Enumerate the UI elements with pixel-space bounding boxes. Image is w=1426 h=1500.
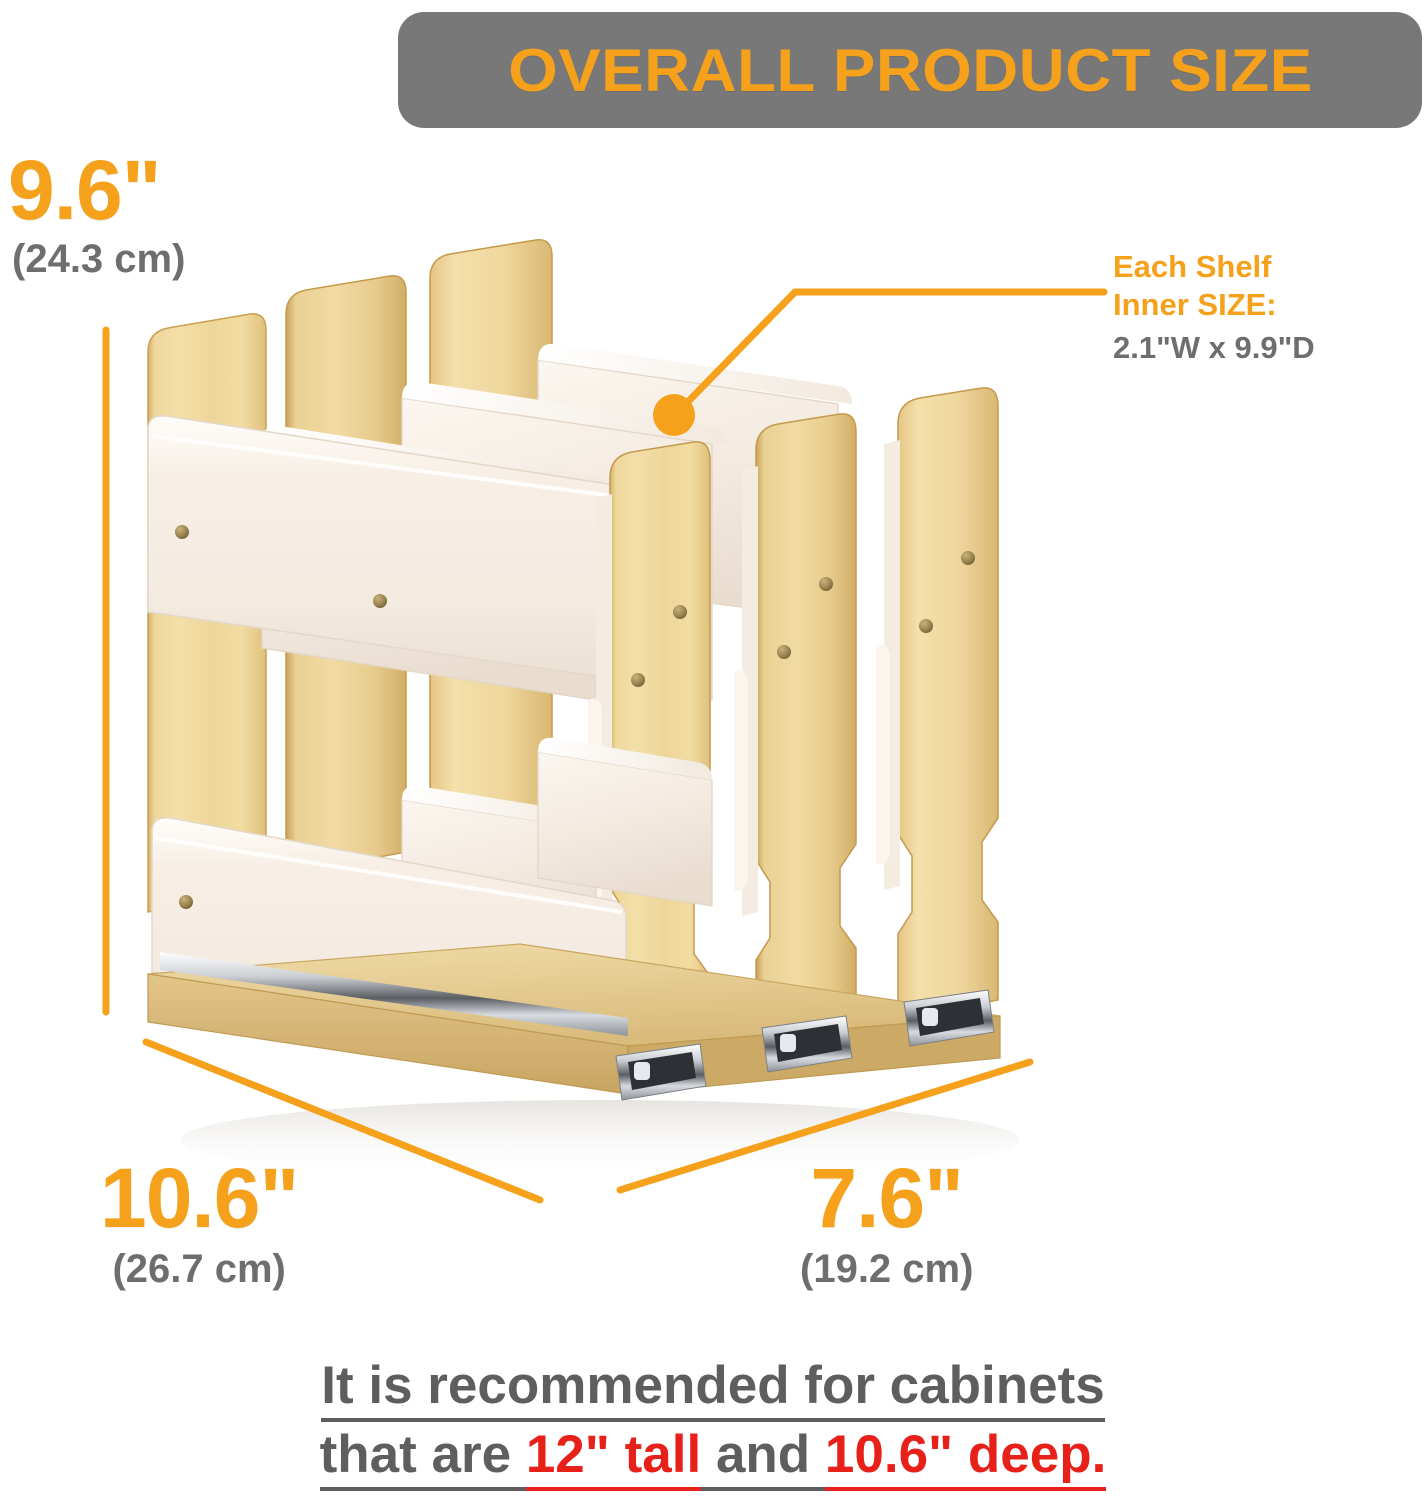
screw [961,551,975,565]
recommendation-note: It is recommended for cabinets that are … [0,1352,1426,1490]
acrylic-divider-front-upper [262,426,610,700]
shelf-callout-leader [653,292,1104,436]
bamboo-side-panel-3 [898,388,998,1030]
screw [810,1042,824,1056]
width-inches: 10.6" [100,1158,298,1239]
bamboo-panel-back-right [430,240,552,828]
recommendation-depth: 10.6" deep. [825,1425,1106,1491]
screw [952,1016,966,1030]
bamboo-panel-back-left [148,314,266,912]
bamboo-panel-back-mid [286,276,406,874]
recommendation-line-1: It is recommended for cabinets [0,1352,1426,1421]
callout-line-2: Inner SIZE: [1113,286,1413,324]
callout-line-1: Each Shelf [1113,248,1413,286]
width-dimension-label: 10.6" (26.7 cm) [100,1158,298,1289]
acrylic-spine-2 [742,466,758,916]
acrylic-front-rail-lower [152,818,626,1042]
depth-cm: (19.2 cm) [800,1249,973,1289]
callout-dot [653,394,695,436]
screw [777,645,791,659]
recommendation-text-2b: and [701,1425,825,1491]
recommendation-text-1: It is recommended for cabinets [321,1356,1104,1422]
callout-line-3: 2.1"W x 9.9"D [1113,330,1413,366]
depth-inches: 7.6" [800,1158,973,1239]
page-title: OVERALL PRODUCT SIZE [508,36,1312,105]
recommendation-text-2a: that are [320,1425,526,1491]
height-inches: 9.6" [8,150,185,231]
acrylic-divider-mid [402,382,726,700]
screw [631,673,645,687]
recommendation-height: 12" tall [526,1425,701,1491]
screw [179,895,193,909]
acrylic-spine-3 [884,440,900,890]
bamboo-side-panel-1 [610,442,710,1084]
height-dimension-label: 9.6" (24.3 cm) [8,150,185,279]
rail-foot-3 [904,990,994,1046]
acrylic-divider-lower-rear [538,738,712,906]
acrylic-divider-lower-mid [402,786,596,960]
rail-foot-1 [616,1044,706,1100]
acrylic-front-rail-upper [148,416,664,686]
screw [919,619,933,633]
bamboo-base-board [148,944,1000,1094]
depth-dimension-label: 7.6" (19.2 cm) [800,1158,973,1289]
recommendation-line-2: that are 12" tall and 10.6" deep. [0,1421,1426,1490]
rail-foot-2 [762,1016,852,1072]
width-cm: (26.7 cm) [100,1249,298,1289]
metal-slide-rails [160,952,994,1100]
shelf-size-callout: Each Shelf Inner SIZE: 2.1"W x 9.9"D [1113,248,1413,366]
screw [664,1070,678,1084]
screw [624,663,638,677]
screw [673,605,687,619]
acrylic-divider-rear [538,344,852,620]
screw [819,577,833,591]
height-cm: (24.3 cm) [12,239,185,279]
screw [564,1003,578,1017]
screw [371,989,385,1003]
bamboo-side-panel-2 [756,414,856,1056]
header-banner: OVERALL PRODUCT SIZE [398,12,1422,128]
screw [175,525,189,539]
screw [373,594,387,608]
acrylic-spine-1 [596,494,612,944]
